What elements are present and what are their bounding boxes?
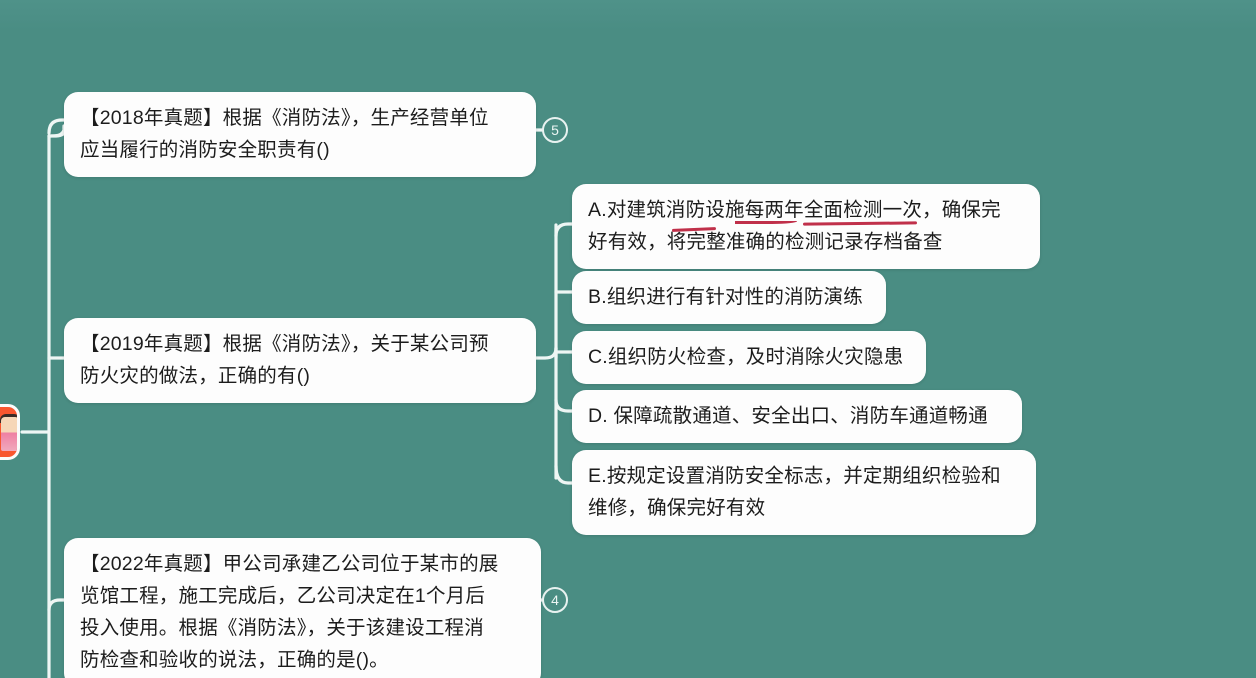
badge-count-2018[interactable]: 5 bbox=[542, 117, 568, 143]
question-node-2022[interactable]: 【2022年真题】甲公司承建乙公司位于某市的展 览馆工程，施工完成后，乙公司决定… bbox=[64, 538, 541, 678]
option-node-c[interactable]: C.组织防火检查，及时消除火灾隐患 bbox=[572, 331, 926, 384]
question-node-2018[interactable]: 【2018年真题】根据《消防法》，生产经营单位 应当履行的消防安全职责有() bbox=[64, 92, 536, 177]
root-avatar-body-icon bbox=[1, 417, 19, 451]
option-node-b[interactable]: B.组织进行有针对性的消防演练 bbox=[572, 271, 886, 324]
option-node-a[interactable]: A.对建筑消防设施每两年全面检测一次，确保完 好有效，将完整准确的检测记录存档备… bbox=[572, 184, 1040, 269]
question-node-2019[interactable]: 【2019年真题】根据《消防法》，关于某公司预 防火灾的做法，正确的有() bbox=[64, 318, 536, 403]
background-top-band bbox=[0, 0, 1256, 30]
option-node-e[interactable]: E.按规定设置消防安全标志，并定期组织检验和 维修，确保完好有效 bbox=[572, 450, 1036, 535]
mindmap-canvas: 【2018年真题】根据《消防法》，生产经营单位 应当履行的消防安全职责有() 5… bbox=[0, 0, 1256, 678]
root-node[interactable] bbox=[0, 404, 20, 460]
annotation-underline-1 bbox=[735, 217, 797, 224]
option-node-d[interactable]: D. 保障疏散通道、安全出口、消防车通道畅通 bbox=[572, 390, 1022, 443]
badge-count-2022[interactable]: 4 bbox=[542, 587, 568, 613]
